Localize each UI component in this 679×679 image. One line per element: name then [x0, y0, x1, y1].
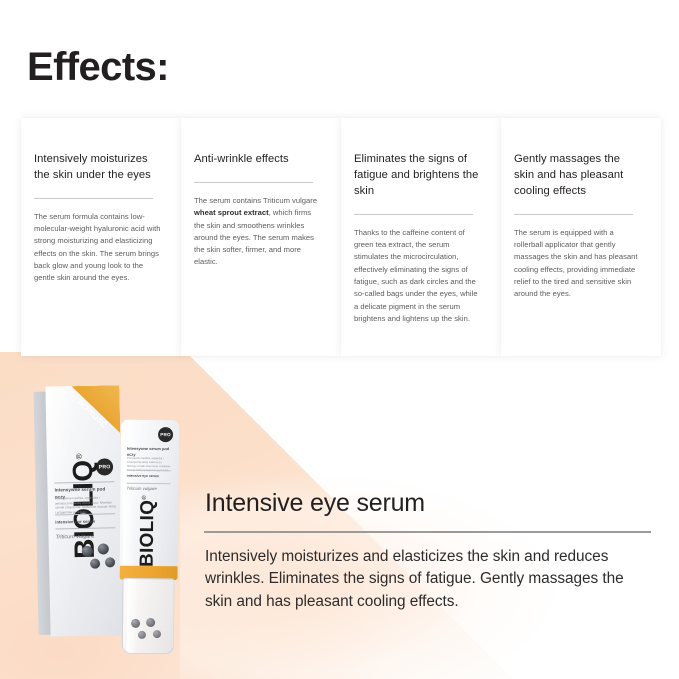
rollerball-sphere	[90, 559, 100, 569]
divider	[194, 182, 313, 183]
rollerball-sphere	[138, 631, 146, 639]
tube-body: PRO Intensywne serum pod oczy Intensywni…	[120, 420, 180, 581]
rollerball-applicator	[129, 617, 169, 647]
tube-gloss	[123, 420, 138, 580]
body-text-bold: wheat sprout extract	[194, 208, 269, 217]
brand-text: BIOLIQ	[137, 500, 159, 567]
page-title: Effects:	[27, 46, 169, 88]
product-description: Intensively moisturizes and elasticizes …	[205, 546, 646, 613]
carton-fine-print: Intensywnie nawilża, wygładza i uelastyc…	[55, 495, 117, 515]
carton-ingredient-latin: Triticum vulgare	[55, 532, 117, 541]
product-photo: NOWOŚĆ PRO BIOLIQ® Intensywne serum pod …	[22, 378, 202, 656]
rollerball-illustration	[79, 543, 120, 578]
tube-brand-name: BIOLIQ®	[136, 465, 159, 580]
body-text-pre: Thanks to the caffeine content of green …	[354, 228, 478, 323]
rollerball-sphere	[153, 630, 161, 638]
divider	[354, 214, 473, 215]
rollerball-sphere	[105, 557, 115, 567]
effect-card-body: The serum is equipped with a rollerball …	[514, 227, 643, 301]
rollerball-sphere	[82, 546, 93, 557]
pro-badge: PRO	[158, 427, 173, 442]
body-text-pre: The serum formula contains low-molecular…	[34, 212, 161, 282]
body-text-pre: The serum contains Triticum vulgare	[194, 196, 317, 205]
carton-product-name-en: intensive eye serum	[55, 518, 117, 525]
rollerball-sphere	[98, 543, 109, 554]
effect-card-heading: Intensively moisturizes the skin under t…	[34, 152, 163, 184]
product-carton-box: NOWOŚĆ PRO BIOLIQ® Intensywne serum pod …	[33, 385, 124, 637]
effect-card-body: Thanks to the caffeine content of green …	[354, 227, 483, 325]
brand-registered-mark: ®	[74, 453, 83, 460]
rollerball-sphere	[146, 618, 155, 627]
divider	[514, 214, 633, 215]
effect-card-body: The serum contains Triticum vulgare whea…	[194, 195, 323, 269]
tube-rollerball-cap	[122, 578, 175, 655]
product-title: Intensive eye serum	[205, 489, 425, 518]
effects-card-row: Intensively moisturizes the skin under t…	[21, 118, 661, 356]
effect-card-heading: Anti-wrinkle effects	[194, 152, 323, 168]
product-tube: PRO Intensywne serum pod oczy Intensywni…	[119, 420, 179, 655]
carton-front-panel: NOWOŚĆ PRO BIOLIQ® Intensywne serum pod …	[45, 385, 124, 636]
body-text-pre: The serum is equipped with a rollerball …	[514, 228, 638, 298]
effect-card: Gently massages the skin and has pleasan…	[501, 118, 661, 356]
effect-card-heading: Gently massages the skin and has pleasan…	[514, 152, 643, 200]
effect-card-body: The serum formula contains low-molecular…	[34, 211, 163, 285]
product-marketing-page: Effects: Intensively moisturizes the ski…	[0, 0, 679, 679]
divider	[34, 198, 153, 199]
brand-registered-mark: ®	[142, 495, 148, 500]
effect-card-heading: Eliminates the signs of fatigue and brig…	[354, 152, 483, 200]
divider	[204, 531, 651, 533]
rollerball-sphere	[131, 619, 140, 628]
effect-card: Intensively moisturizes the skin under t…	[21, 118, 181, 356]
effect-card: Anti-wrinkle effects The serum contains …	[181, 118, 341, 356]
effect-card: Eliminates the signs of fatigue and brig…	[341, 118, 501, 356]
